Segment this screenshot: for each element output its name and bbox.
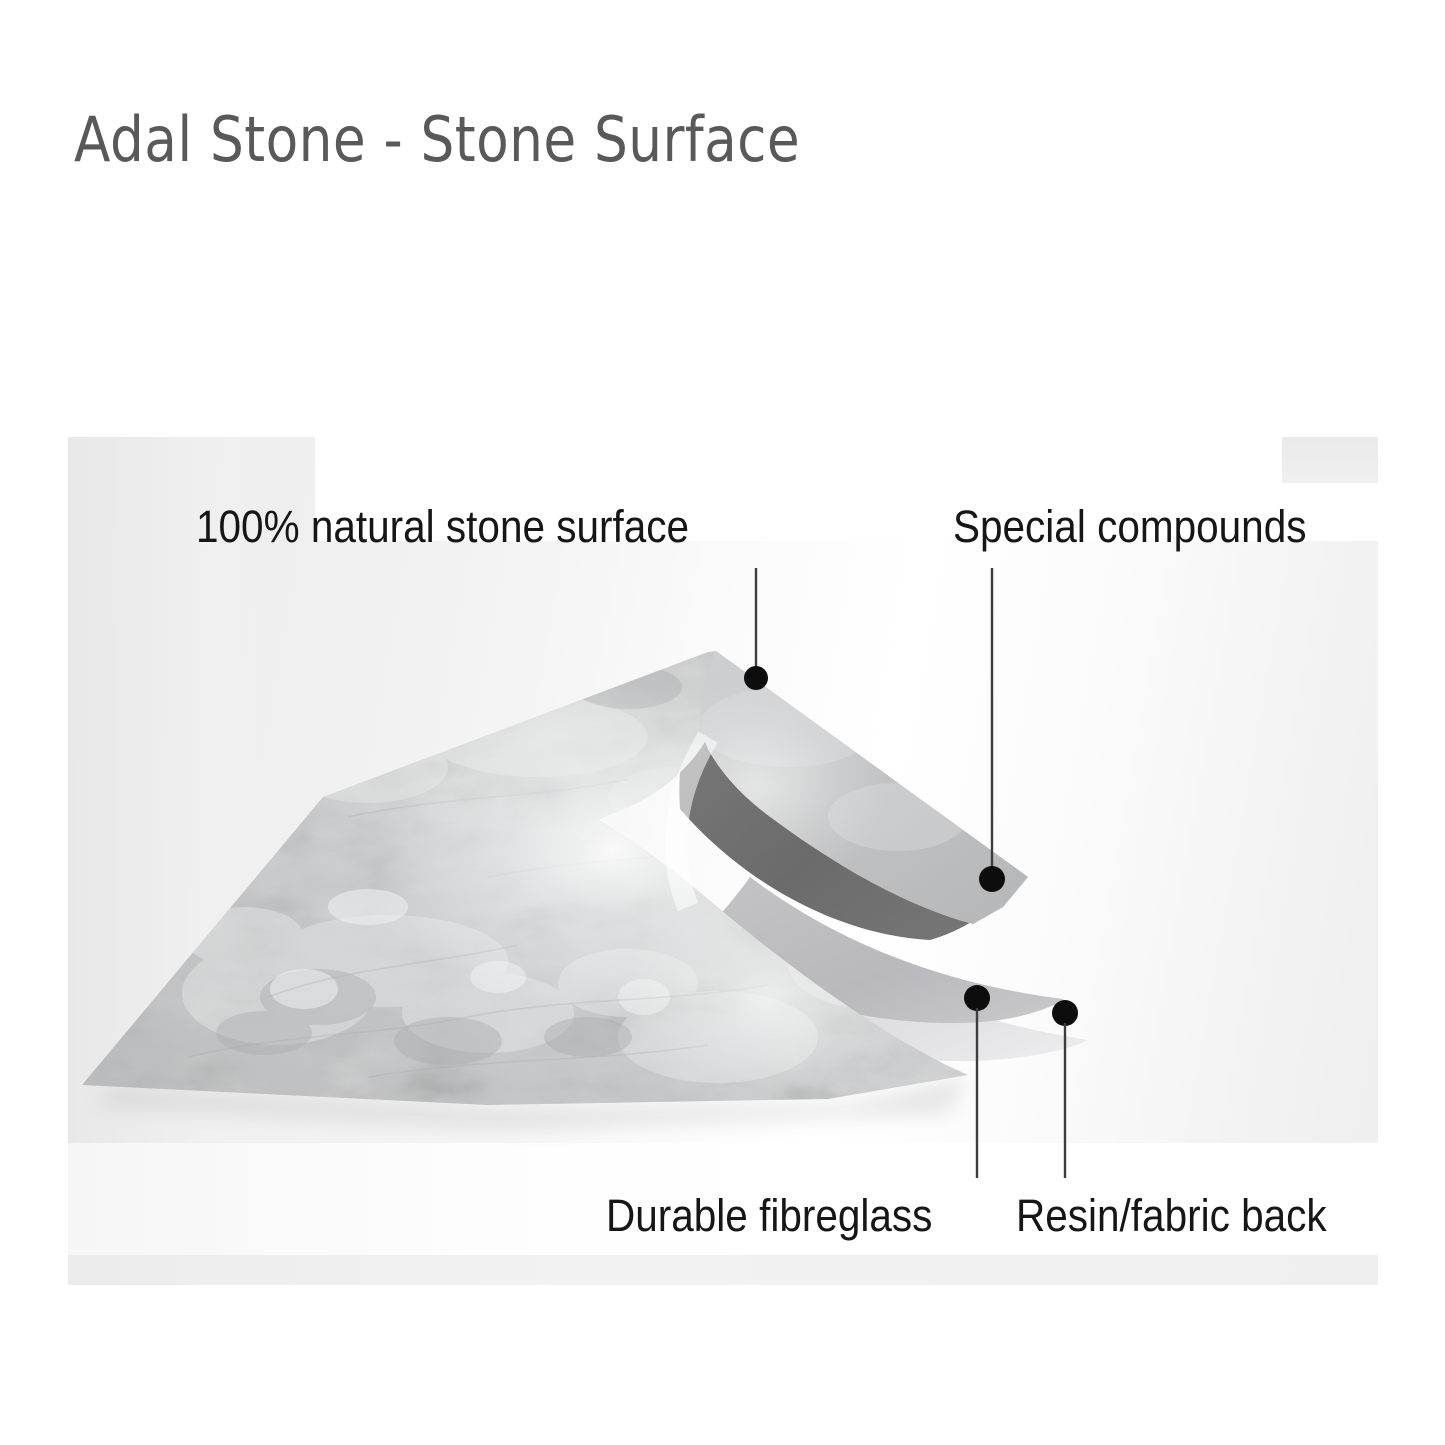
callout-resin-fabric-back[interactable] <box>1052 1000 1078 1178</box>
callout-overlay <box>68 437 1378 1285</box>
callout-durable-fibreglass[interactable] <box>964 985 990 1178</box>
callout-label-natural-stone-surface: 100% natural stone surface <box>196 504 689 549</box>
callout-natural-stone-surface[interactable] <box>744 568 768 690</box>
page-title: Adal Stone - Stone Surface <box>74 104 800 175</box>
callout-label-resin-fabric-back: Resin/fabric back <box>1016 1193 1327 1238</box>
stone-layer-diagram-panel <box>68 437 1378 1285</box>
callout-label-special-compounds: Special compounds <box>953 504 1306 549</box>
callout-special-compounds[interactable] <box>979 568 1005 892</box>
callout-label-durable-fibreglass: Durable fibreglass <box>606 1193 932 1238</box>
